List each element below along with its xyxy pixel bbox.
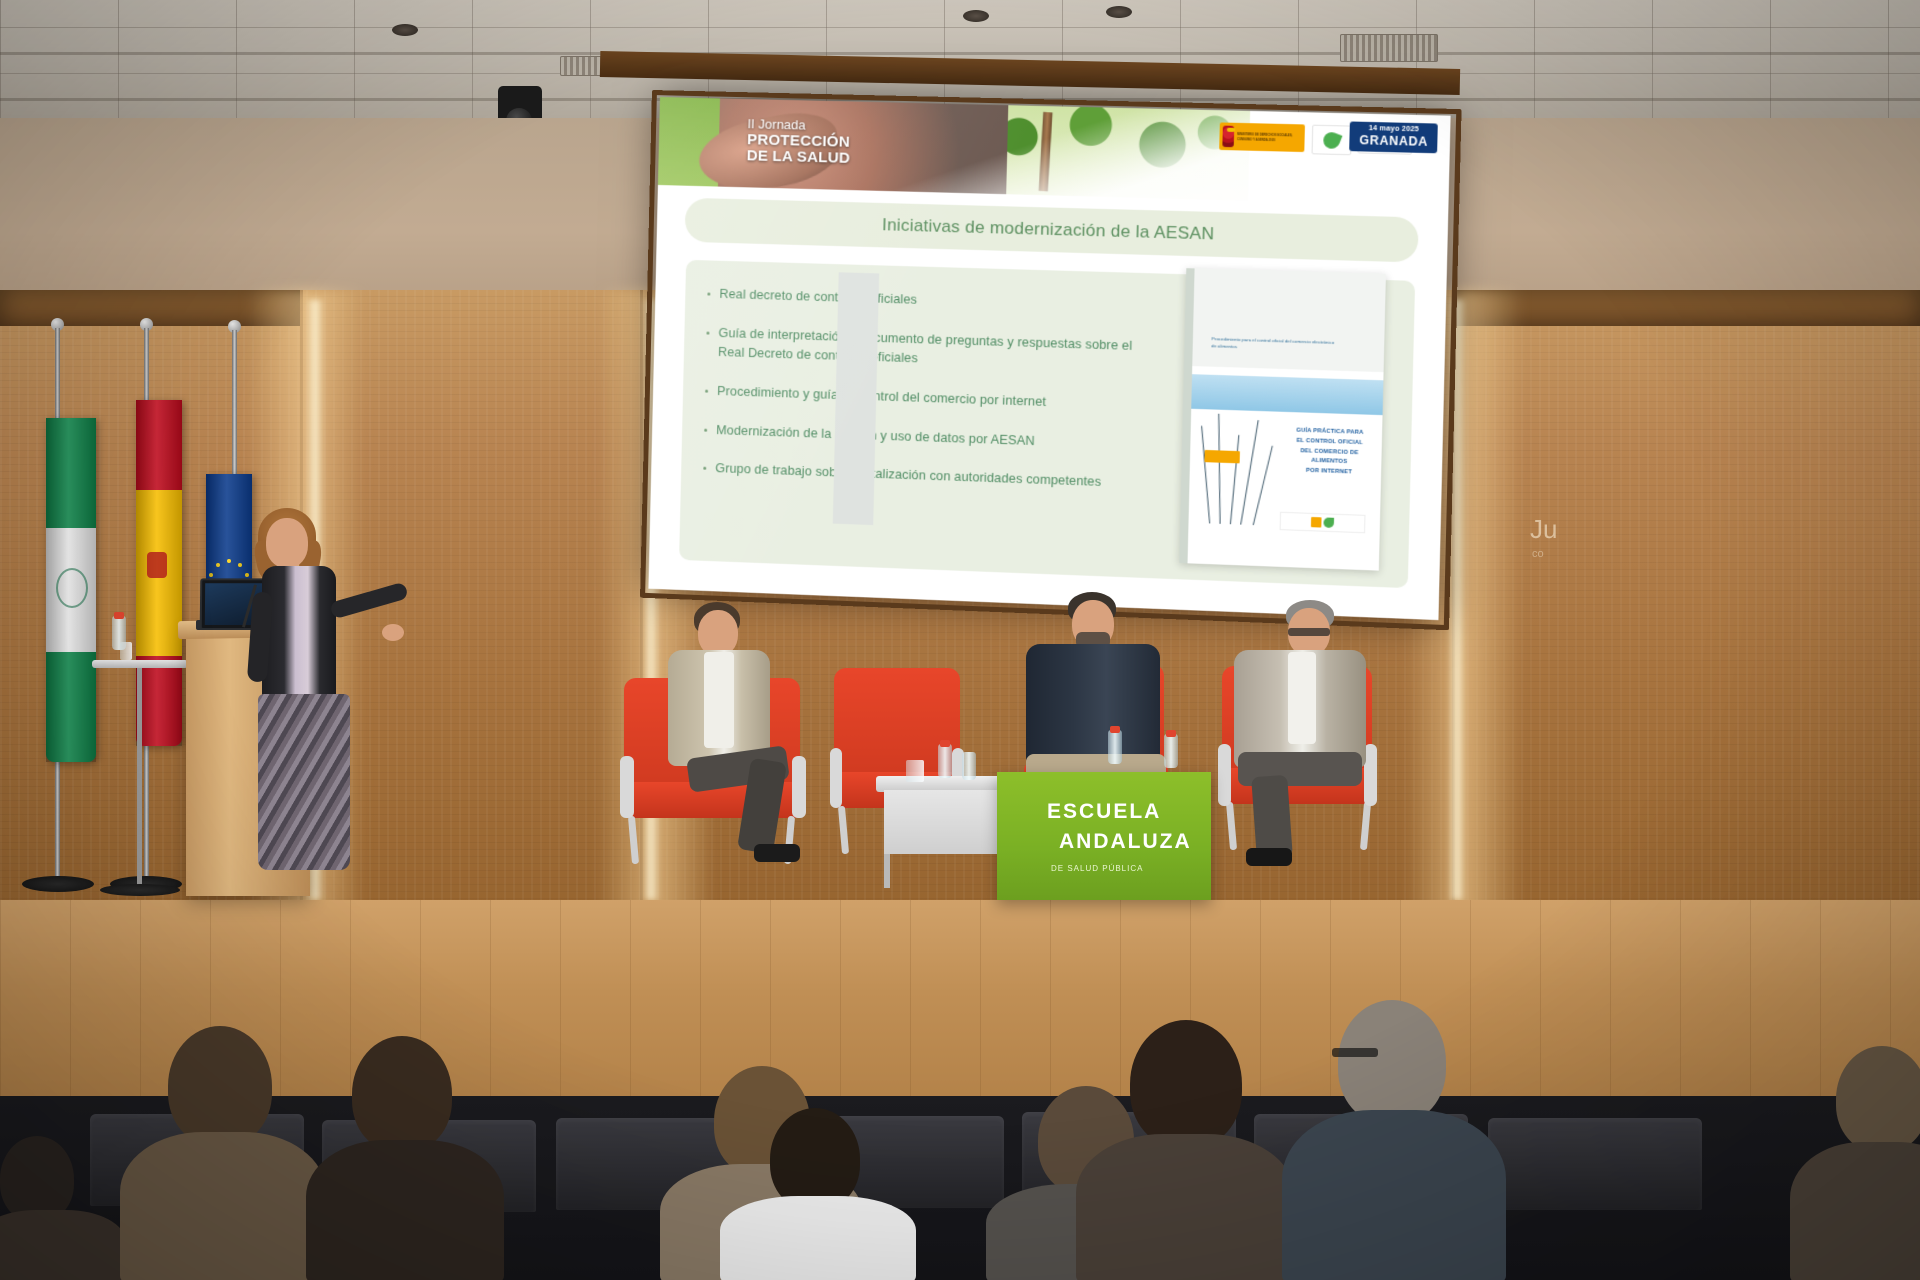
spain-coat-of-arms-icon: [1222, 126, 1234, 148]
chair-arm: [830, 748, 842, 808]
audience-seat: [1488, 1118, 1702, 1210]
doc-title-line: POR INTERNET: [1281, 466, 1377, 479]
spain-emblem-icon: [147, 552, 167, 578]
ministry-logo-text: MINISTERIO DE DERECHOS SOCIALES, CONSUMO…: [1237, 132, 1302, 142]
bullet-dot-icon: [707, 292, 710, 295]
audience-head: [352, 1036, 452, 1152]
bullet-dot-icon: [706, 331, 709, 334]
bullet-text: Procedimiento y guía de control del come…: [717, 382, 1047, 412]
ministry-logo: MINISTERIO DE DERECHOS SOCIALES, CONSUMO…: [1219, 122, 1305, 152]
eyeglasses-icon: [1288, 628, 1330, 636]
chair-arm: [792, 756, 806, 818]
air-vent: [1340, 34, 1438, 62]
drinking-glass: [120, 642, 132, 660]
wall-light-strip: [1448, 300, 1466, 900]
bottle-cap: [1166, 730, 1176, 737]
audience-head: [1338, 1000, 1446, 1124]
banner-white-sweep: [889, 102, 1450, 205]
side-table-base: [100, 884, 180, 896]
panelist-leg: [1251, 775, 1293, 859]
audience-body: [1790, 1142, 1920, 1280]
wall-text: co: [1532, 548, 1544, 560]
escuela-banner-stand: ESCUELA ANDALUZA DE SALUD PÚBLICA: [997, 772, 1211, 900]
doc-footer-ministry-icon: [1311, 517, 1322, 528]
doc-title-block: GUÍA PRÁCTICA PARA EL CONTROL OFICIAL DE…: [1281, 426, 1378, 479]
audience-head: [1130, 1020, 1242, 1148]
audience-head: [168, 1026, 272, 1146]
document-thumbnail: Procedimiento para el control oficial de…: [1179, 268, 1386, 570]
water-bottle: [962, 752, 976, 780]
aesan-logo: [1312, 125, 1352, 156]
coffee-cup: [906, 760, 924, 782]
speaker-head: [266, 518, 308, 568]
doc-gray-block: [833, 272, 879, 525]
slide-bullet-list: Real decreto de controles oficiales Guía…: [703, 284, 1134, 513]
projection-screen: II Jornada PROTECCIÓN DE LA SALUD MINIST…: [648, 97, 1450, 620]
downlight-icon: [963, 10, 989, 22]
doc-reed-illustration: [1203, 411, 1278, 526]
flag-espana: [136, 400, 182, 746]
chair-arm: [1218, 744, 1231, 806]
bullet-dot-icon: [705, 389, 708, 392]
doc-top-band: [1184, 268, 1386, 372]
side-table-top: [92, 660, 188, 668]
banner-word-3: DE SALUD PÚBLICA: [1051, 864, 1143, 873]
audience-body: [1282, 1110, 1506, 1280]
audience-body: [306, 1140, 504, 1280]
panelist-shirt: [1288, 652, 1316, 744]
downlight-icon: [1106, 6, 1132, 18]
bullet-dot-icon: [704, 428, 707, 431]
banner-word-1: ESCUELA: [1047, 800, 1161, 824]
panelist-shirt: [1026, 644, 1160, 766]
audience-head: [1836, 1046, 1920, 1152]
slide-content-panel: Real decreto de controles oficiales Guía…: [679, 260, 1415, 588]
eyeglasses-icon: [1332, 1048, 1378, 1057]
ceiling-beam: [0, 98, 1920, 101]
bullet-text: Real decreto de controles oficiales: [719, 285, 917, 310]
wall-text: Ju: [1530, 514, 1557, 545]
ceiling-beam: [0, 52, 1920, 55]
date-location-badge: 14 mayo 2025 GRANADA: [1350, 121, 1438, 153]
list-item: Real decreto de controles oficiales: [707, 284, 1134, 316]
bottle-cap: [114, 612, 124, 619]
panelist-shoe: [1246, 848, 1292, 866]
slide-title-pill: Iniciativas de modernización de la AESAN: [685, 198, 1419, 263]
presentation-slide: II Jornada PROTECCIÓN DE LA SALUD MINIST…: [648, 97, 1450, 620]
flag-andalucia: [46, 418, 96, 762]
flag-base: [22, 876, 94, 892]
bullet-text: Grupo de trabajo sobre digitalización co…: [715, 460, 1101, 493]
doc-blue-band: [1191, 374, 1383, 415]
badge-city: GRANADA: [1359, 134, 1428, 149]
leaf-icon: [1321, 129, 1343, 150]
list-item: Guía de interpretación y documento de pr…: [706, 323, 1133, 375]
bottle-cap: [1110, 726, 1120, 733]
audience-body: [720, 1196, 916, 1280]
bottle-cap: [940, 740, 950, 747]
slide-banner: II Jornada PROTECCIÓN DE LA SALUD MINIST…: [658, 97, 1451, 206]
water-bottle: [1108, 730, 1122, 764]
coffee-table-leg: [884, 854, 890, 888]
downlight-icon: [392, 24, 418, 36]
speaker-right-hand: [382, 624, 404, 641]
andalucia-emblem-icon: [56, 568, 88, 608]
speaker-skirt: [258, 694, 350, 870]
doc-footer-logos: [1280, 512, 1366, 534]
doc-left-stripe: [1179, 268, 1194, 563]
water-bottle: [1164, 734, 1178, 768]
banner-title: II Jornada PROTECCIÓN DE LA SALUD: [747, 117, 851, 168]
banner-line-3: DE LA SALUD: [747, 149, 851, 169]
audience-head: [770, 1108, 860, 1210]
list-item: Modernización de la gestión y uso de dat…: [704, 420, 1131, 454]
speaker-torso: [262, 566, 336, 702]
audience-body: [120, 1132, 326, 1280]
doc-footer-aesan-icon: [1323, 517, 1334, 528]
chair-arm: [620, 756, 634, 818]
water-bottle: [938, 744, 952, 778]
list-item: Grupo de trabajo sobre digitalización co…: [703, 459, 1130, 493]
doc-ministry-logo: [1204, 450, 1239, 463]
list-item: Procedimiento y guía de control del come…: [705, 381, 1132, 414]
conference-photo: Ju co II Jornada PROTECCIÓN DE LA SALUD: [0, 0, 1920, 1280]
panelist-shirt: [704, 652, 734, 748]
slide-title: Iniciativas de modernización de la AESAN: [882, 215, 1215, 244]
bullet-text: Guía de interpretación y documento de pr…: [718, 324, 1133, 375]
banner-word-2: ANDALUZA: [1059, 830, 1192, 854]
audience-body: [1076, 1134, 1294, 1280]
panelist-shoe: [754, 844, 800, 862]
audience-body: [0, 1210, 126, 1280]
bullet-dot-icon: [703, 467, 706, 470]
side-table-leg: [137, 668, 142, 892]
